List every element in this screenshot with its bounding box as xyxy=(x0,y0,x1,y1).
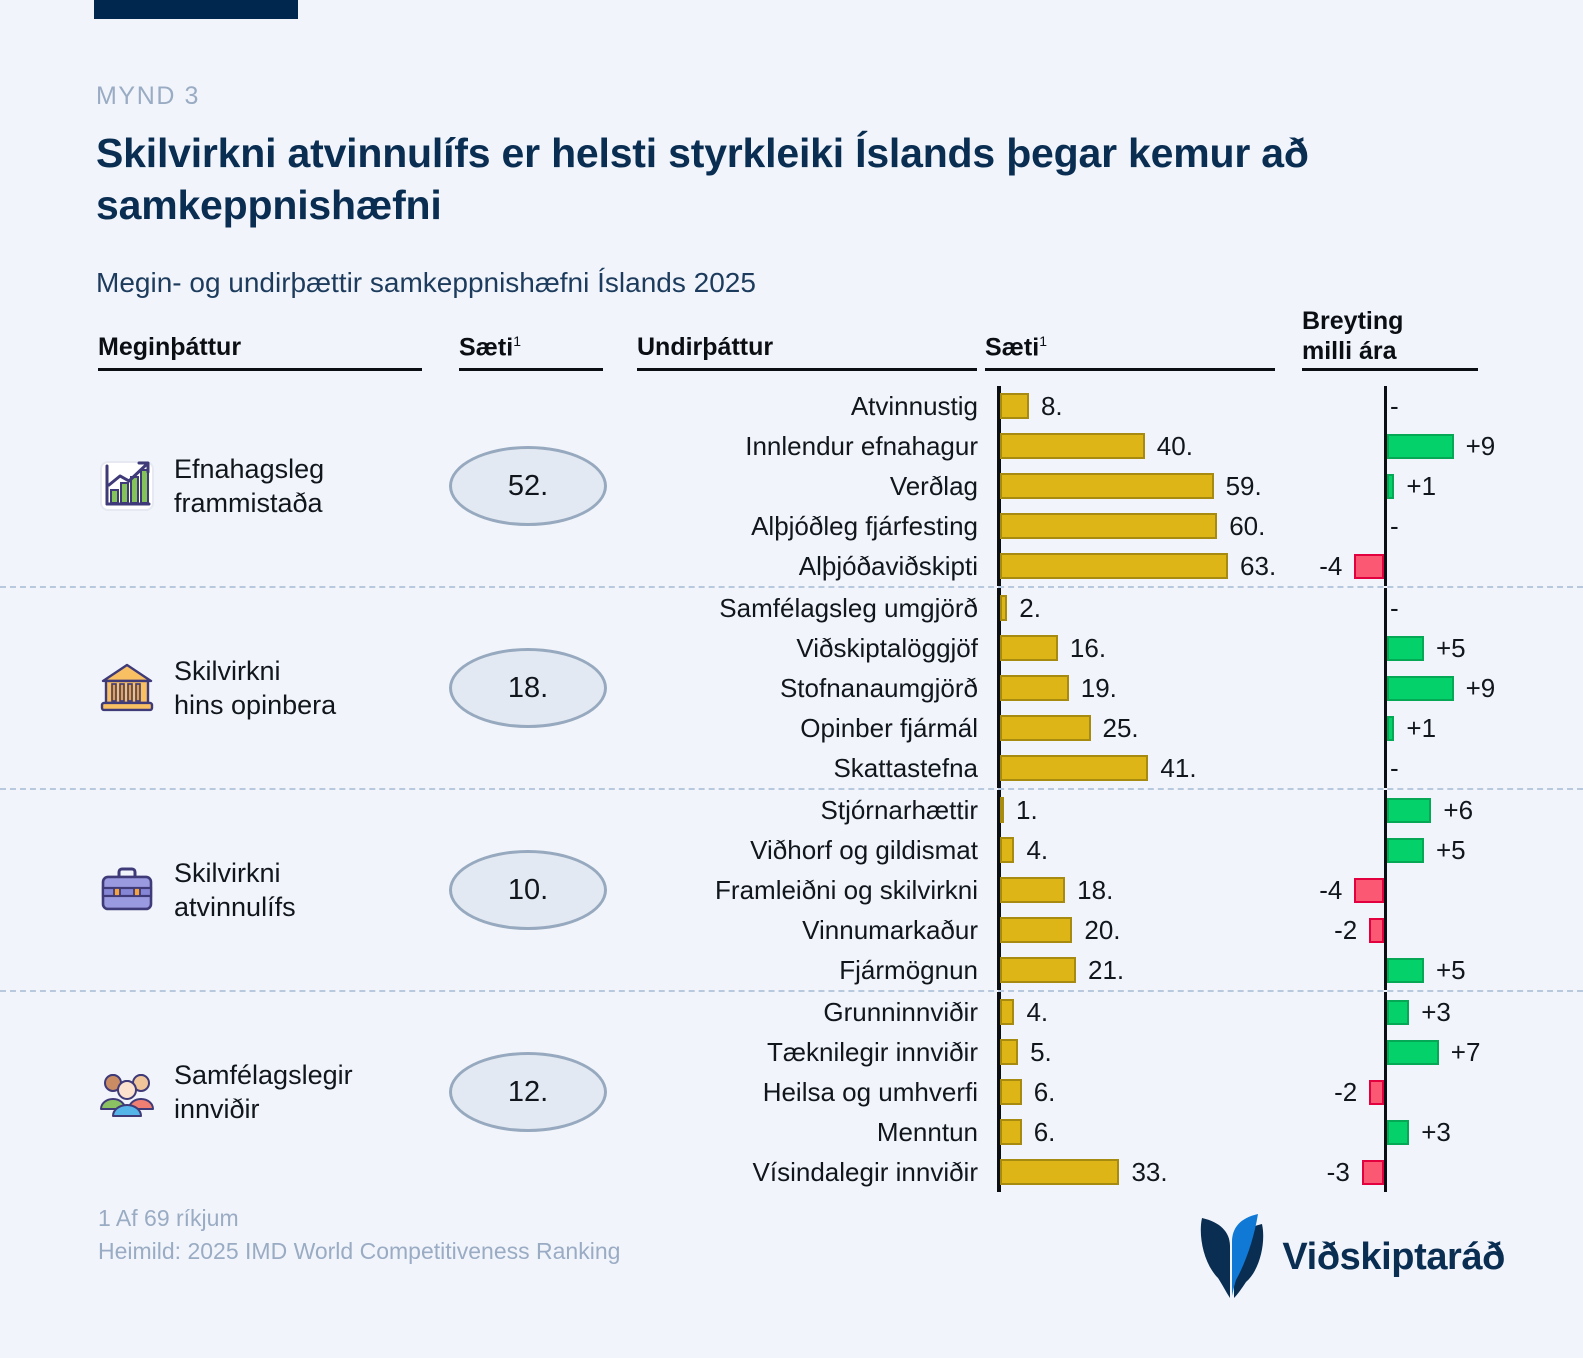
change-value-label: - xyxy=(1390,588,1399,628)
footnote-marker-1: 1 xyxy=(513,333,521,349)
table-row: Alþjóðaviðskipti63.-4 xyxy=(0,546,1583,586)
rank-bar xyxy=(1000,999,1014,1025)
factor-group: Skilvirkni atvinnulífs10.Stjórnarhættir1… xyxy=(0,788,1583,990)
rank-value-label: 4. xyxy=(1026,830,1048,870)
rank-bar xyxy=(1000,433,1145,459)
rank-value-label: 41. xyxy=(1160,748,1196,788)
change-bar xyxy=(1387,1120,1409,1145)
rank-value-label: 6. xyxy=(1034,1072,1056,1112)
column-rule-change xyxy=(1302,368,1478,371)
chart-body: Efnahagsleg frammistaða52.Atvinnustig8.-… xyxy=(0,386,1583,1192)
change-value-label: +5 xyxy=(1436,950,1466,990)
rank-value-label: 21. xyxy=(1088,950,1124,990)
change-value-label: - xyxy=(1390,506,1399,546)
change-value-label: +6 xyxy=(1443,790,1473,830)
change-bar xyxy=(1362,1160,1384,1185)
change-value-label: +5 xyxy=(1436,628,1466,668)
change-bar xyxy=(1387,958,1424,983)
change-value-label: +7 xyxy=(1451,1032,1481,1072)
column-header-change: Breyting milli ára xyxy=(1302,307,1403,366)
sub-factor-label: Stjórnarhættir xyxy=(600,790,978,830)
sub-factor-label: Grunninnviðir xyxy=(600,992,978,1032)
table-row: Viðskiptalöggjöf16.+5 xyxy=(0,628,1583,668)
rank-value-label: 19. xyxy=(1081,668,1117,708)
table-row: Stjórnarhættir1.+6 xyxy=(0,790,1583,830)
page-title: Skilvirkni atvinnulífs er helsti styrkle… xyxy=(96,127,1496,231)
rank-bar xyxy=(1000,513,1217,539)
table-row: Tæknilegir innviðir5.+7 xyxy=(0,1032,1583,1072)
sub-factor-label: Verðlag xyxy=(600,466,978,506)
rank-bar xyxy=(1000,635,1058,661)
change-bar xyxy=(1387,474,1394,499)
rank-bar xyxy=(1000,553,1228,579)
rank-bar xyxy=(1000,755,1148,781)
rank-value-label: 8. xyxy=(1041,386,1063,426)
change-value-label: -2 xyxy=(1317,1072,1357,1112)
column-header-rank-main: Sæti1 xyxy=(459,333,521,362)
sub-factor-label: Vísindalegir innviðir xyxy=(600,1152,978,1192)
change-bar xyxy=(1387,798,1431,823)
footer-notes: 1 Af 69 ríkjum Heimild: 2025 IMD World C… xyxy=(98,1202,620,1269)
rank-value-label: 33. xyxy=(1131,1152,1167,1192)
sub-factor-label: Innlendur efnahagur xyxy=(600,426,978,466)
sub-factor-label: Tæknilegir innviðir xyxy=(600,1032,978,1072)
change-bar xyxy=(1387,434,1454,459)
change-bar xyxy=(1369,1080,1384,1105)
sub-factor-label: Viðhorf og gildismat xyxy=(600,830,978,870)
table-row: Skattastefna41.- xyxy=(0,748,1583,788)
page-subtitle: Megin- og undirþættir samkeppnishæfni Ís… xyxy=(96,267,1496,299)
table-row: Heilsa og umhverfi6.-2 xyxy=(0,1072,1583,1112)
rank-bar xyxy=(1000,797,1004,823)
sub-factor-label: Framleiðni og skilvirkni xyxy=(600,870,978,910)
sub-factor-label: Skattastefna xyxy=(600,748,978,788)
sub-factor-rows: Atvinnustig8.-Innlendur efnahagur40.+9Ve… xyxy=(0,386,1583,586)
column-rule-rank-sub xyxy=(985,368,1275,371)
factor-group: Efnahagsleg frammistaða52.Atvinnustig8.-… xyxy=(0,386,1583,586)
rank-bar xyxy=(1000,393,1029,419)
table-row: Innlendur efnahagur40.+9 xyxy=(0,426,1583,466)
table-row: Fjármögnun21.+5 xyxy=(0,950,1583,990)
change-bar xyxy=(1387,716,1394,741)
rank-bar xyxy=(1000,877,1065,903)
rank-value-label: 6. xyxy=(1034,1112,1056,1152)
rank-value-label: 16. xyxy=(1070,628,1106,668)
top-accent-bar xyxy=(94,0,298,19)
column-rule-rank-main xyxy=(459,368,603,371)
change-bar xyxy=(1387,1040,1439,1065)
sub-factor-label: Vinnumarkaður xyxy=(600,910,978,950)
change-value-label: -2 xyxy=(1317,910,1357,950)
change-value-label: - xyxy=(1390,386,1399,426)
sub-factor-label: Atvinnustig xyxy=(600,386,978,426)
change-bar xyxy=(1387,676,1454,701)
change-bar xyxy=(1369,918,1384,943)
table-row: Verðlag59.+1 xyxy=(0,466,1583,506)
brand-logo: Viðskiptaráð xyxy=(1196,1212,1505,1303)
change-bar xyxy=(1387,838,1424,863)
change-bar xyxy=(1354,554,1384,579)
rank-bar xyxy=(1000,1079,1022,1105)
column-rule-sub-factor xyxy=(637,368,977,371)
table-row: Vinnumarkaður20.-2 xyxy=(0,910,1583,950)
rank-value-label: 59. xyxy=(1226,466,1262,506)
change-value-label: +1 xyxy=(1406,466,1436,506)
rank-bar xyxy=(1000,675,1069,701)
figure-eyebrow: MYND 3 xyxy=(96,82,1496,111)
header-block: MYND 3 Skilvirkni atvinnulífs er helsti … xyxy=(96,82,1496,299)
table-row: Opinber fjármál25.+1 xyxy=(0,708,1583,748)
rank-bar xyxy=(1000,595,1007,621)
column-header-sub-factor: Undirþáttur xyxy=(637,333,773,362)
rank-value-label: 63. xyxy=(1240,546,1276,586)
rank-bar xyxy=(1000,917,1072,943)
rank-bar xyxy=(1000,1119,1022,1145)
rank-value-label: 40. xyxy=(1157,426,1193,466)
table-row: Stofnanaumgjörð19.+9 xyxy=(0,668,1583,708)
rank-bar xyxy=(1000,837,1014,863)
factor-group: Samfélagslegir innviðir12.Grunninnviðir4… xyxy=(0,990,1583,1192)
change-value-label: -4 xyxy=(1302,546,1342,586)
sub-factor-label: Alþjóðleg fjárfesting xyxy=(600,506,978,546)
change-value-label: +9 xyxy=(1466,426,1496,466)
sub-factor-rows: Samfélagsleg umgjörð2.-Viðskiptalöggjöf1… xyxy=(0,588,1583,788)
column-header-row: Meginþáttur Sæti1 Undirþáttur Sæti1 Brey… xyxy=(0,300,1583,380)
change-bar xyxy=(1354,878,1384,903)
sub-factor-label: Fjármögnun xyxy=(600,950,978,990)
rank-bar xyxy=(1000,1039,1018,1065)
sub-factor-rows: Stjórnarhættir1.+6Viðhorf og gildismat4.… xyxy=(0,790,1583,990)
rank-bar xyxy=(1000,715,1091,741)
table-row: Vísindalegir innviðir33.-3 xyxy=(0,1152,1583,1192)
sub-factor-label: Alþjóðaviðskipti xyxy=(600,546,978,586)
table-row: Framleiðni og skilvirkni18.-4 xyxy=(0,870,1583,910)
change-value-label: +9 xyxy=(1466,668,1496,708)
sub-factor-label: Heilsa og umhverfi xyxy=(600,1072,978,1112)
brand-name: Viðskiptaráð xyxy=(1282,1236,1505,1279)
leaf-logo-icon xyxy=(1196,1212,1268,1303)
rank-value-label: 2. xyxy=(1019,588,1041,628)
change-bar xyxy=(1387,1000,1409,1025)
rank-bar xyxy=(1000,473,1214,499)
sub-factor-label: Viðskiptalöggjöf xyxy=(600,628,978,668)
sub-factor-label: Opinber fjármál xyxy=(600,708,978,748)
sub-factor-label: Stofnanaumgjörð xyxy=(600,668,978,708)
rank-value-label: 1. xyxy=(1016,790,1038,830)
sub-factor-label: Menntun xyxy=(600,1112,978,1152)
footnote-text: 1 Af 69 ríkjum xyxy=(98,1202,620,1235)
change-value-label: +1 xyxy=(1406,708,1436,748)
table-row: Viðhorf og gildismat4.+5 xyxy=(0,830,1583,870)
change-value-label: -4 xyxy=(1302,870,1342,910)
rank-value-label: 18. xyxy=(1077,870,1113,910)
sub-factor-rows: Grunninnviðir4.+3Tæknilegir innviðir5.+7… xyxy=(0,992,1583,1192)
source-text: Heimild: 2025 IMD World Competitiveness … xyxy=(98,1235,620,1268)
column-header-main-factor: Meginþáttur xyxy=(98,333,241,362)
rank-value-label: 20. xyxy=(1084,910,1120,950)
change-bar xyxy=(1387,636,1424,661)
rank-bar xyxy=(1000,957,1076,983)
table-row: Samfélagsleg umgjörð2.- xyxy=(0,588,1583,628)
column-header-rank-sub: Sæti1 xyxy=(985,333,1047,362)
sub-factor-label: Samfélagsleg umgjörð xyxy=(600,588,978,628)
change-value-label: +5 xyxy=(1436,830,1466,870)
table-row: Grunninnviðir4.+3 xyxy=(0,992,1583,1032)
column-rule-main-factor xyxy=(98,368,422,371)
table-row: Alþjóðleg fjárfesting60.- xyxy=(0,506,1583,546)
change-value-label: - xyxy=(1390,748,1399,788)
change-value-label: -3 xyxy=(1310,1152,1350,1192)
rank-value-label: 25. xyxy=(1103,708,1139,748)
change-value-label: +3 xyxy=(1421,992,1451,1032)
footnote-marker-2: 1 xyxy=(1039,333,1047,349)
table-row: Menntun6.+3 xyxy=(0,1112,1583,1152)
rank-bar xyxy=(1000,1159,1119,1185)
rank-value-label: 4. xyxy=(1026,992,1048,1032)
rank-value-label: 60. xyxy=(1229,506,1265,546)
change-value-label: +3 xyxy=(1421,1112,1451,1152)
factor-group: Skilvirkni hins opinbera18.Samfélagsleg … xyxy=(0,586,1583,788)
table-row: Atvinnustig8.- xyxy=(0,386,1583,426)
rank-value-label: 5. xyxy=(1030,1032,1052,1072)
